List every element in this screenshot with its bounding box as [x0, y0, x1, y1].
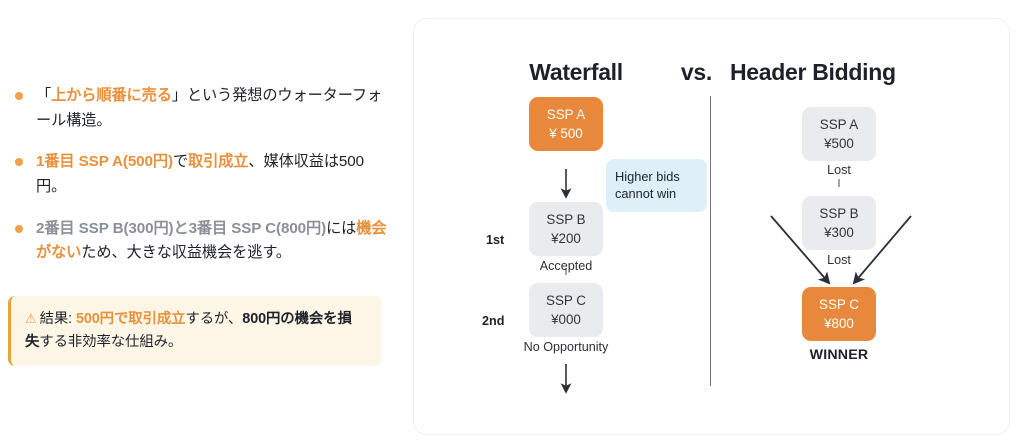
ssp-price: ¥300 [824, 223, 854, 242]
explanation-pane: 「上から順番に売る」という発想のウォーターフォール構造。 1番目 SSP A(5… [0, 0, 400, 446]
bullet-text-segment: には [326, 220, 356, 237]
bullet-text-highlight: 取引成立 [188, 153, 248, 170]
bullet-dot-icon [15, 92, 23, 100]
comparison-diagram-card: Waterfallvs.Header Bidding 1st [413, 18, 1010, 435]
waterfall-ssp-a-box[interactable]: SSP A ¥ 500 [529, 97, 603, 151]
ssp-name: SSP A [820, 115, 858, 134]
bullet-list: 「上から順番に売る」という発想のウォーターフォール構造。 1番目 SSP A(5… [12, 84, 390, 283]
screenshot-root: 「上から順番に売る」という発想のウォーターフォール構造。 1番目 SSP A(5… [0, 0, 1024, 446]
column-divider [710, 96, 711, 386]
bullet-text-highlight: 上から順番に売る [51, 87, 172, 104]
diagram-title-waterfall: Waterfall [529, 59, 623, 85]
diagram-title-header-bidding: Header Bidding [730, 59, 896, 85]
ssp-price: ¥200 [551, 229, 581, 248]
waterfall-ssp-b-box[interactable]: SSP B ¥200 [529, 202, 603, 256]
ssp-price: ¥ 500 [549, 124, 583, 143]
bullet-first-ssp: 1番目 SSP A(500円)で取引成立、媒体収益は500円。 [12, 150, 390, 199]
hb-ssp-c-box[interactable]: SSP C ¥800 [802, 287, 876, 341]
bullet-missed-opportunity: 2番目 SSP B(300円)と3番目 SSP C(800円)には機会がないため… [12, 217, 390, 266]
bullet-text-segment: 「 [36, 87, 51, 104]
callout-text-highlight: 500円で取引成立 [76, 311, 185, 327]
ssp-name: SSP C [546, 291, 586, 310]
waterfall-ssp-c-box[interactable]: SSP C ¥000 [529, 283, 603, 337]
result-callout: ⚠結果: 500円で取引成立するが、800円の機会を損失する非効率な仕組み。 [8, 296, 382, 366]
higher-bids-tooltip: Higher bids cannot win [606, 159, 707, 212]
ssp-name: SSP C [819, 295, 859, 314]
bullet-text-muted: 2番目 SSP B(300円)と3番目 SSP C(800円) [36, 220, 326, 237]
bullet-dot-icon [15, 225, 23, 233]
hb-winner-label: WINNER [797, 347, 881, 363]
diagram-title: Waterfallvs.Header Bidding [414, 59, 1011, 86]
hb-ssp-a-status: Lost [802, 163, 876, 177]
rank-label-2nd: 2nd [482, 314, 504, 328]
waterfall-ssp-b-status: Accepted [517, 259, 615, 273]
diagram-title-vs: vs. [681, 59, 712, 85]
ssp-price: ¥500 [824, 134, 854, 153]
ssp-price: ¥800 [824, 314, 854, 333]
hb-ssp-b-box[interactable]: SSP B ¥300 [802, 196, 876, 250]
hb-ssp-a-box[interactable]: SSP A ¥500 [802, 107, 876, 161]
callout-text-segment: 結果: [40, 311, 76, 327]
bullet-dot-icon [15, 158, 23, 166]
bullet-text-segment: ため、大きな収益機会を逃す。 [81, 244, 291, 261]
rank-label-1st: 1st [486, 233, 504, 247]
bullet-text-highlight: 1番目 SSP A(500円) [36, 153, 173, 170]
bullet-text-segment: で [173, 153, 188, 170]
ssp-price: ¥000 [551, 310, 581, 329]
ssp-name: SSP B [546, 210, 585, 229]
hb-ssp-b-status: Lost [802, 253, 876, 267]
callout-text-segment: する非効率な仕組み。 [39, 334, 182, 350]
waterfall-ssp-c-status: No Opportunity [496, 340, 636, 354]
warning-triangle-icon: ⚠ [25, 311, 37, 326]
ssp-name: SSP B [819, 204, 858, 223]
bullet-waterfall-concept: 「上から順番に売る」という発想のウォーターフォール構造。 [12, 84, 390, 133]
ssp-name: SSP A [547, 105, 585, 124]
callout-text-segment: するが、 [185, 311, 242, 327]
